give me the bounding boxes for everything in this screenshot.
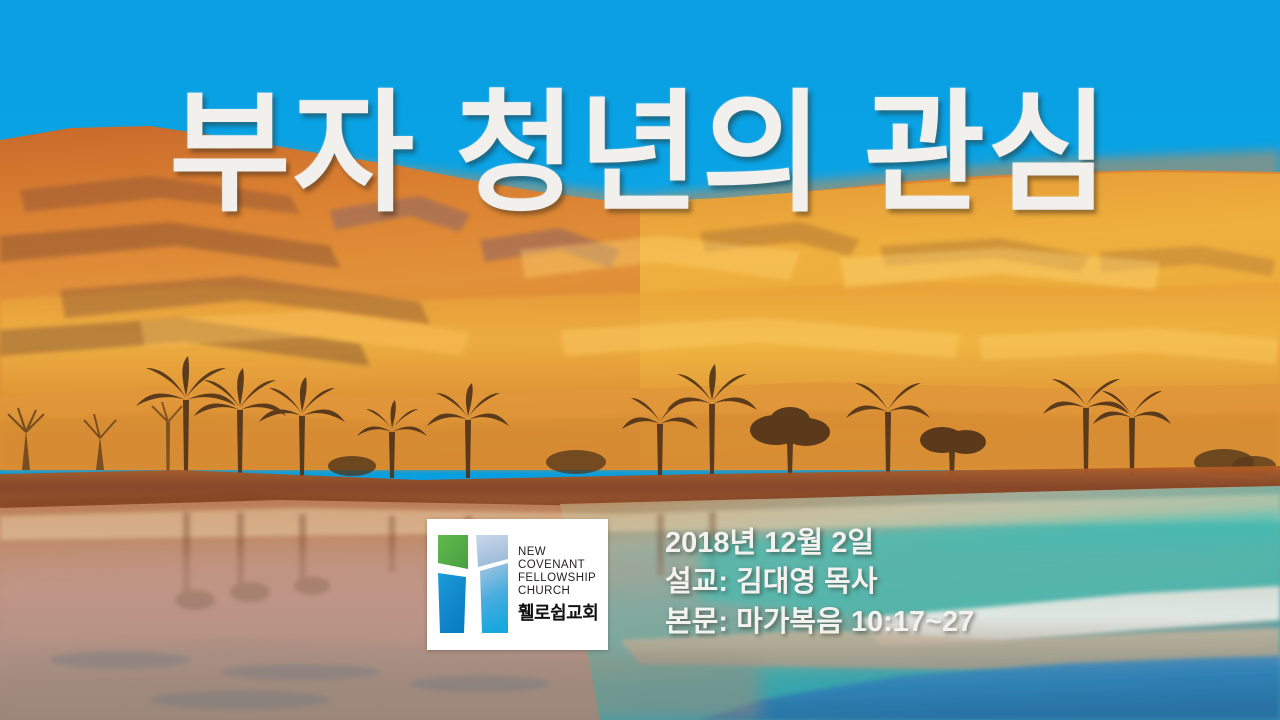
sermon-date: 2018년 12월 2일 bbox=[665, 524, 974, 563]
sermon-preacher: 설교: 김대영 목사 bbox=[665, 563, 974, 602]
logo-line-1: NEW bbox=[518, 546, 598, 559]
logo-line-4: CHURCH bbox=[518, 585, 598, 598]
church-logo: NEW COVENANT FELLOWSHIP CHURCH 휄로쉽교회 bbox=[427, 519, 608, 650]
logo-wordmark: NEW COVENANT FELLOWSHIP CHURCH 휄로쉽교회 bbox=[518, 546, 598, 623]
logo-korean-name: 휄로쉽교회 bbox=[518, 603, 598, 623]
sermon-scripture: 본문: 마가복음 10:17~27 bbox=[665, 603, 974, 642]
logo-line-3: FELLOWSHIP bbox=[518, 572, 598, 585]
sermon-title-slide: 부자 청년의 관심 NEW COVENANT FELLOWSHIP CHURCH… bbox=[0, 0, 1280, 720]
sermon-info-block: 2018년 12월 2일 설교: 김대영 목사 본문: 마가복음 10:17~2… bbox=[665, 524, 974, 642]
page-title: 부자 청년의 관심 bbox=[0, 88, 1280, 220]
logo-line-2: COVENANT bbox=[518, 559, 598, 572]
cross-emblem-icon bbox=[436, 533, 510, 637]
